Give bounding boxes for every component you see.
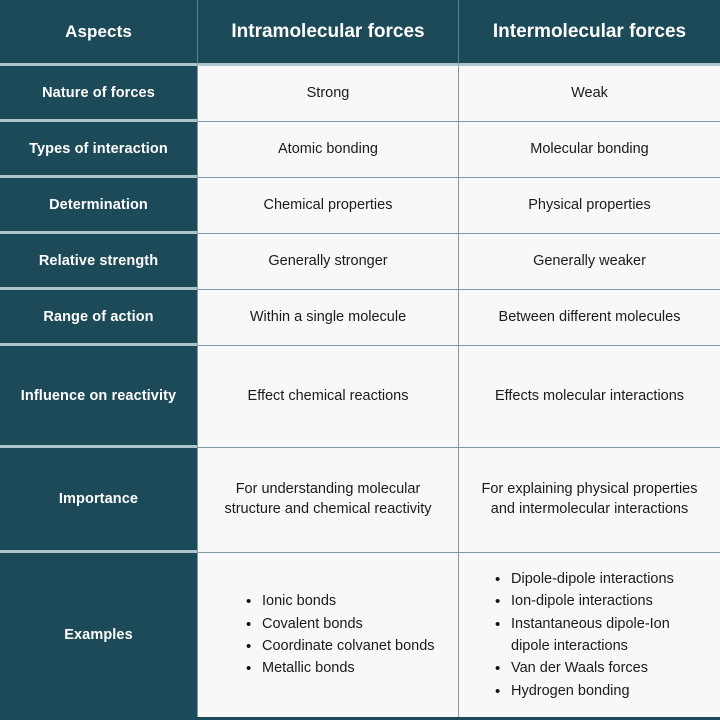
comparison-table: Aspects Intramolecular forces Intermolec… bbox=[0, 0, 720, 720]
table-row: Nature of forces Strong Weak bbox=[0, 66, 720, 122]
table-row: Range of action Within a single molecule… bbox=[0, 290, 720, 346]
cell-intramolecular-relative-strength: Generally stronger bbox=[197, 234, 458, 290]
importance-intermolecular-line-2: and intermolecular interactions bbox=[482, 500, 698, 520]
row-label-importance: Importance bbox=[0, 448, 197, 553]
row-label-types-of-interaction: Types of interaction bbox=[0, 122, 197, 178]
row-label-range-of-action: Range of action bbox=[0, 290, 197, 346]
row-label-determination: Determination bbox=[0, 178, 197, 234]
list-item: Coordinate colvanet bonds bbox=[246, 635, 435, 657]
list-item: Hydrogen bonding bbox=[495, 680, 712, 702]
table-row: Examples Ionic bonds Covalent bonds Coor… bbox=[0, 553, 720, 717]
cell-intermolecular-influence-on-reactivity: Effects molecular interactions bbox=[458, 346, 720, 448]
column-header-aspects: Aspects bbox=[0, 0, 197, 66]
importance-intermolecular-line-1: For explaining physical properties bbox=[482, 480, 698, 500]
importance-intramolecular-line-1: For understanding molecular bbox=[224, 480, 431, 500]
cell-intramolecular-importance: For understanding molecular structure an… bbox=[197, 448, 458, 553]
table-row: Relative strength Generally stronger Gen… bbox=[0, 234, 720, 290]
column-header-intermolecular: Intermolecular forces bbox=[458, 0, 720, 66]
cell-intramolecular-nature-of-forces: Strong bbox=[197, 66, 458, 122]
cell-intermolecular-examples: Dipole-dipole interactions Ion-dipole in… bbox=[458, 553, 720, 717]
list-item: Van der Waals forces bbox=[495, 657, 712, 679]
table-row: Importance For understanding molecular s… bbox=[0, 448, 720, 553]
intramolecular-examples-list: Ionic bonds Covalent bonds Coordinate co… bbox=[206, 590, 435, 680]
cell-intermolecular-nature-of-forces: Weak bbox=[458, 66, 720, 122]
row-label-nature-of-forces: Nature of forces bbox=[0, 66, 197, 122]
cell-intermolecular-relative-strength: Generally weaker bbox=[458, 234, 720, 290]
row-label-relative-strength: Relative strength bbox=[0, 234, 197, 290]
row-label-influence-on-reactivity: Influence on reactivity bbox=[0, 346, 197, 448]
list-item: Covalent bonds bbox=[246, 613, 435, 635]
cell-intramolecular-determination: Chemical properties bbox=[197, 178, 458, 234]
list-item: Ion-dipole interactions bbox=[495, 590, 712, 612]
cell-intermolecular-importance: For explaining physical properties and i… bbox=[458, 448, 720, 553]
table-row: Types of interaction Atomic bonding Mole… bbox=[0, 122, 720, 178]
cell-intermolecular-range-of-action: Between different molecules bbox=[458, 290, 720, 346]
cell-intermolecular-types-of-interaction: Molecular bonding bbox=[458, 122, 720, 178]
list-item: Dipole-dipole interactions bbox=[495, 568, 712, 590]
cell-intermolecular-determination: Physical properties bbox=[458, 178, 720, 234]
table-header-row: Aspects Intramolecular forces Intermolec… bbox=[0, 0, 720, 66]
list-item: Instantaneous dipole-Ion dipole interact… bbox=[495, 613, 712, 658]
table-row: Influence on reactivity Effect chemical … bbox=[0, 346, 720, 448]
cell-intramolecular-range-of-action: Within a single molecule bbox=[197, 290, 458, 346]
importance-intramolecular-line-2: structure and chemical reactivity bbox=[224, 500, 431, 520]
column-header-intramolecular: Intramolecular forces bbox=[197, 0, 458, 66]
cell-intramolecular-types-of-interaction: Atomic bonding bbox=[197, 122, 458, 178]
cell-intramolecular-examples: Ionic bonds Covalent bonds Coordinate co… bbox=[197, 553, 458, 717]
intermolecular-examples-list: Dipole-dipole interactions Ion-dipole in… bbox=[467, 568, 712, 703]
list-item: Metallic bonds bbox=[246, 657, 435, 679]
list-item: Ionic bonds bbox=[246, 590, 435, 612]
row-label-examples: Examples bbox=[0, 553, 197, 717]
cell-intramolecular-influence-on-reactivity: Effect chemical reactions bbox=[197, 346, 458, 448]
table-row: Determination Chemical properties Physic… bbox=[0, 178, 720, 234]
